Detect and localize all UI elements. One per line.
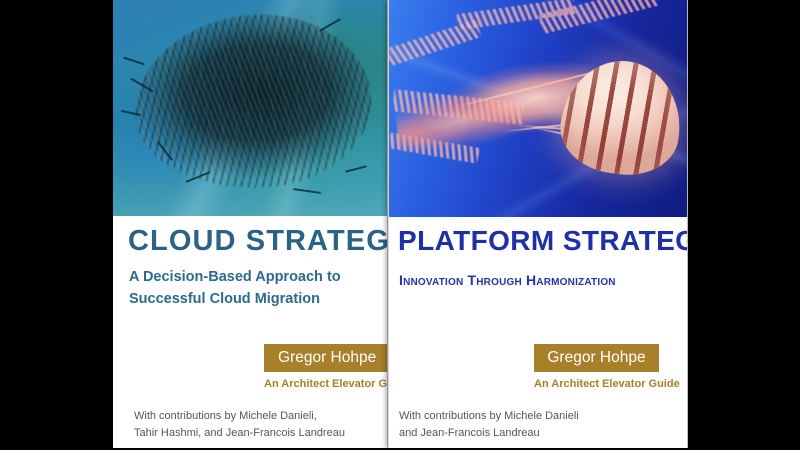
- author-banner: Gregor Hohpe: [534, 344, 659, 372]
- book-subtitle: A Decision-Based Approach to Successful …: [129, 267, 374, 311]
- cover-image-jellyfish: [389, 0, 687, 217]
- book-subtitle: Innovation Through Harmonization: [399, 272, 616, 288]
- book-cover-platform-strategy[interactable]: PLATFORM STRATEGY Innovation Through Har…: [388, 0, 688, 448]
- book-title: CLOUD STRATEGY: [128, 225, 388, 258]
- scene-background: CLOUD STRATEGY A Decision-Based Approach…: [0, 0, 800, 450]
- series-label: An Architect Elevator Guide: [534, 378, 680, 390]
- author-banner: Gregor Hohpe: [264, 344, 388, 372]
- author-name: Gregor Hohpe: [547, 349, 645, 367]
- contributors-text: With contributions by Michele Danieli, T…: [134, 408, 345, 442]
- book-title: PLATFORM STRATEGY: [398, 225, 688, 257]
- cover-image-school-of-fish: [113, 0, 387, 216]
- author-name: Gregor Hohpe: [278, 349, 376, 367]
- series-label: An Architect Elevator Guide: [264, 378, 388, 390]
- book-cover-cloud-strategy[interactable]: CLOUD STRATEGY A Decision-Based Approach…: [113, 0, 388, 448]
- contributors-text: With contributions by Michele Danieli an…: [399, 408, 579, 442]
